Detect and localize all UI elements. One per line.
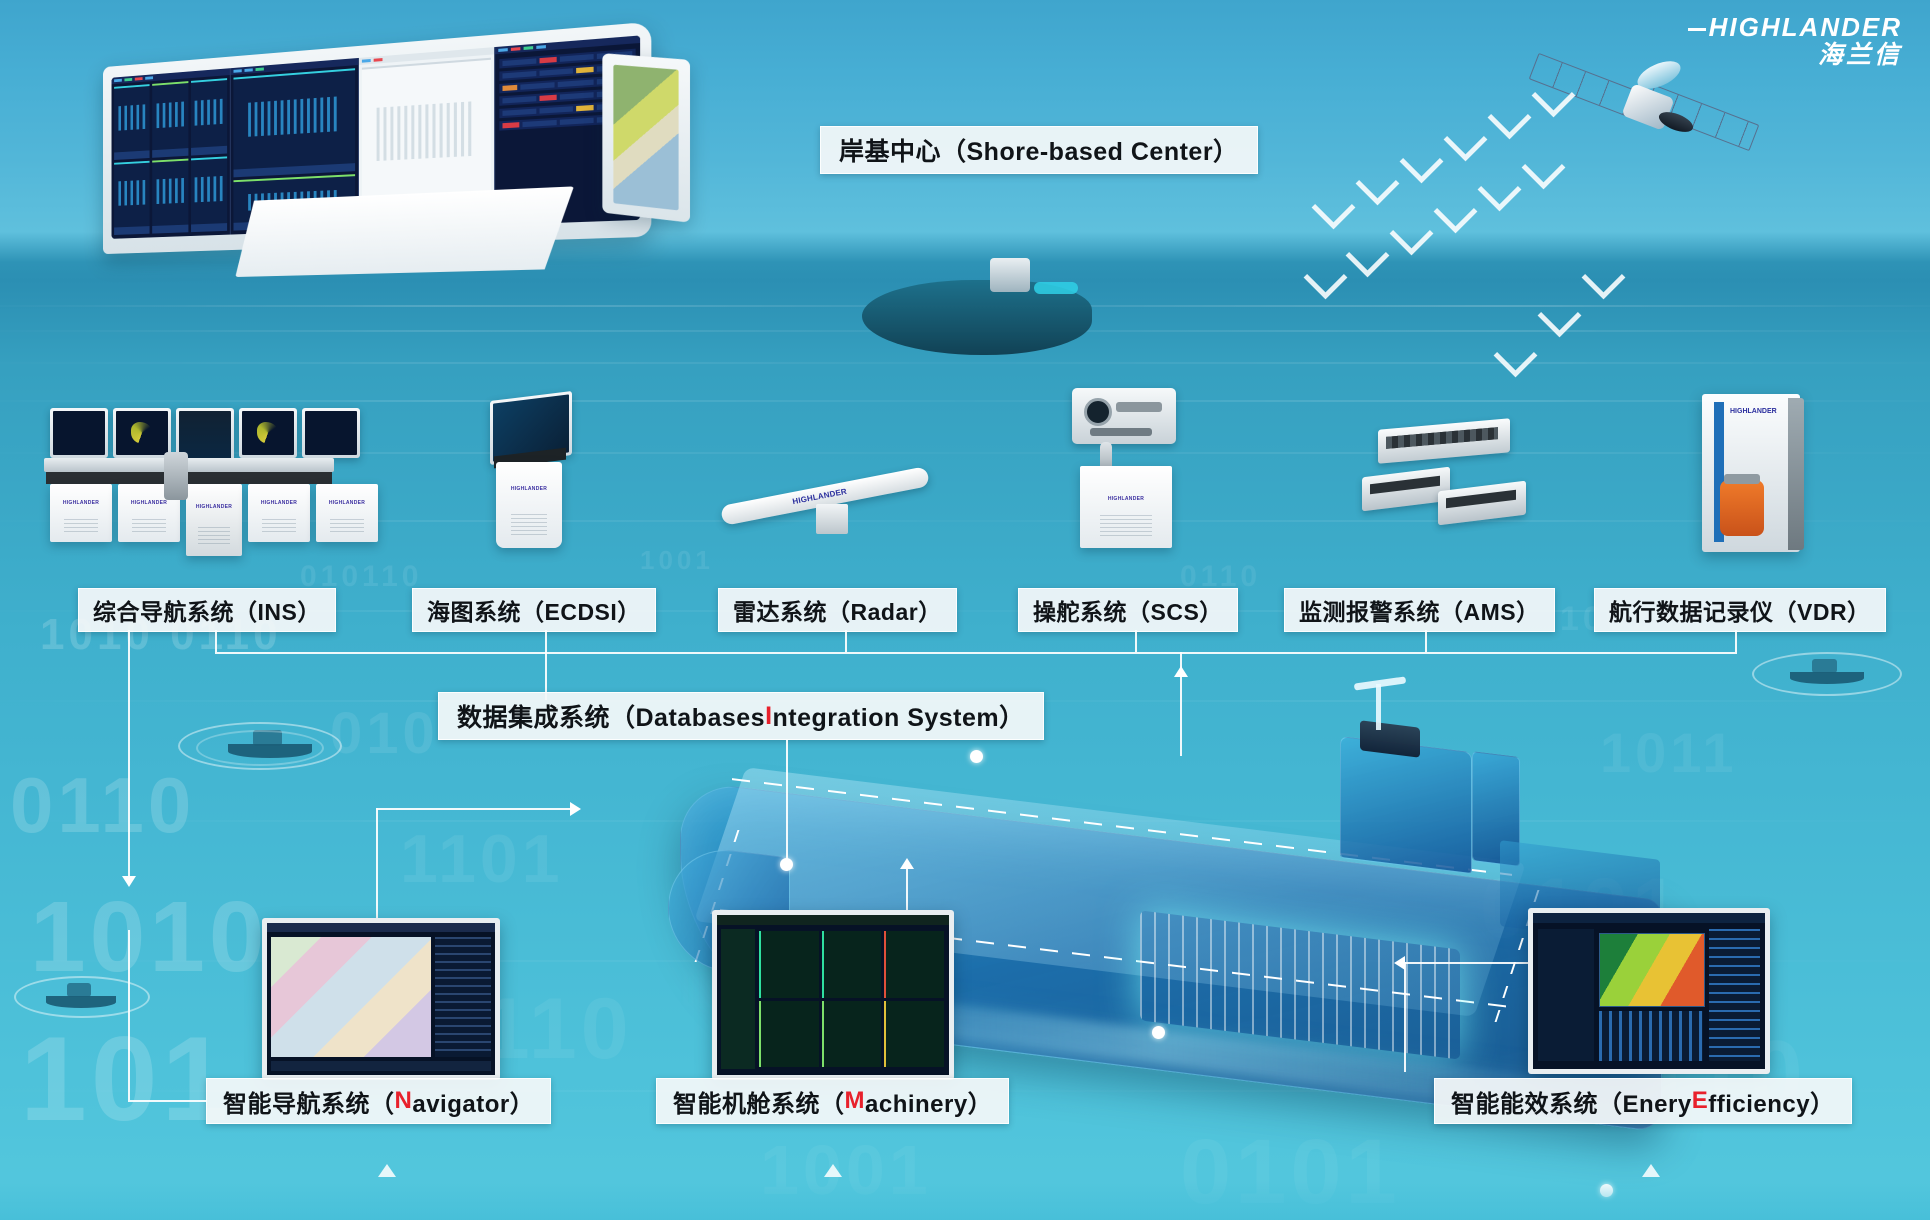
device-steering-console: HIGHLANDER — [1060, 388, 1200, 558]
label-smart-0-prefix: 智能导航系统（ — [223, 1084, 395, 1119]
arrow-scs-up — [1174, 666, 1188, 677]
shore-based-center-video-wall — [103, 22, 651, 254]
label-shore-based-center-text: 岸基中心（Shore-based Center） — [839, 132, 1239, 168]
brand-name: HIGHLANDER — [1688, 14, 1902, 40]
label-smart-1-prefix: 智能机舱系统（ — [673, 1084, 845, 1119]
device-ecdis-kiosk: HIGHLANDER — [480, 396, 600, 556]
device-radar-antenna: HIGHLANDER — [720, 440, 950, 550]
screen-machinery-monitor[interactable] — [712, 910, 954, 1080]
hotspot-engine[interactable] — [1152, 1026, 1165, 1039]
operator-desk — [235, 186, 574, 277]
label-smart-0-highlight: N — [395, 1087, 413, 1115]
hotspot-bridge[interactable] — [970, 750, 983, 763]
device-vdr-cabinet: HIGHLANDER — [1690, 394, 1830, 564]
device-integrated-navigation-console: HIGHLANDER HIGHLANDER HIGHLANDER HIGHLAN… — [40, 408, 340, 548]
wall-screen-machinery — [112, 68, 231, 239]
label-smart-system-0[interactable]: 智能导航系统（Navigator） — [206, 1078, 551, 1124]
arrow-ins-down — [122, 876, 136, 887]
label-smart-2-highlight: E — [1692, 1087, 1709, 1115]
indicator-triangle-2 — [1642, 1164, 1660, 1177]
label-smart-0-suffix: avigator） — [412, 1084, 534, 1119]
indicator-triangle-0 — [378, 1164, 396, 1177]
label-system-5-text: 航行数据记录仪（VDR） — [1609, 593, 1871, 627]
dis-highlight: I — [765, 702, 772, 731]
communication-satellite-icon — [1530, 42, 1760, 172]
bottom-fade — [0, 1180, 1930, 1220]
label-system-0[interactable]: 综合导航系统（INS） — [78, 588, 336, 632]
screen-energy-efficiency[interactable] — [1528, 908, 1770, 1074]
label-smart-system-1[interactable]: 智能机舱系统（Machinery） — [656, 1078, 1009, 1124]
label-smart-2-prefix: 智能能效系统（Enery — [1451, 1084, 1692, 1119]
indicator-triangle-1 — [824, 1164, 842, 1177]
submarine-island-object — [862, 280, 1092, 355]
connector-ins-to-navigator — [128, 1100, 206, 1102]
label-smart-1-suffix: achinery） — [865, 1084, 992, 1119]
wall-screen-camera-feed — [602, 53, 690, 222]
label-system-0-text: 综合导航系统（INS） — [93, 593, 321, 627]
device-alarm-monitoring-units — [1360, 424, 1550, 554]
label-smart-system-2[interactable]: 智能能效系统（Enery Efficiency） — [1434, 1078, 1852, 1124]
label-system-5[interactable]: 航行数据记录仪（VDR） — [1594, 588, 1886, 632]
label-shore-based-center[interactable]: 岸基中心（Shore-based Center） — [820, 126, 1258, 174]
arrow-machinery-up — [900, 858, 914, 869]
label-system-1[interactable]: 海图系统（ECDSI） — [412, 588, 656, 632]
label-system-1-text: 海图系统（ECDSI） — [427, 593, 641, 627]
label-system-2-text: 雷达系统（Radar） — [733, 593, 942, 627]
arrow-deck-right — [570, 802, 581, 816]
label-system-4-text: 监测报警系统（AMS） — [1299, 593, 1540, 627]
label-system-3[interactable]: 操舵系统（SCS） — [1018, 588, 1238, 632]
dis-prefix: 数据集成系统（Databases — [457, 698, 765, 734]
label-smart-1-highlight: M — [845, 1087, 866, 1115]
label-system-4[interactable]: 监测报警系统（AMS） — [1284, 588, 1555, 632]
label-system-3-text: 操舵系统（SCS） — [1033, 593, 1223, 627]
infographic-canvas: 1010 0110 010110 1001 0110 1001 01 0110 … — [0, 0, 1930, 1220]
label-smart-2-suffix: fficiency） — [1708, 1084, 1834, 1119]
screen-navigation-chart[interactable] — [262, 918, 500, 1080]
label-system-2[interactable]: 雷达系统（Radar） — [718, 588, 957, 632]
dis-suffix: ntegration System） — [773, 698, 1025, 734]
